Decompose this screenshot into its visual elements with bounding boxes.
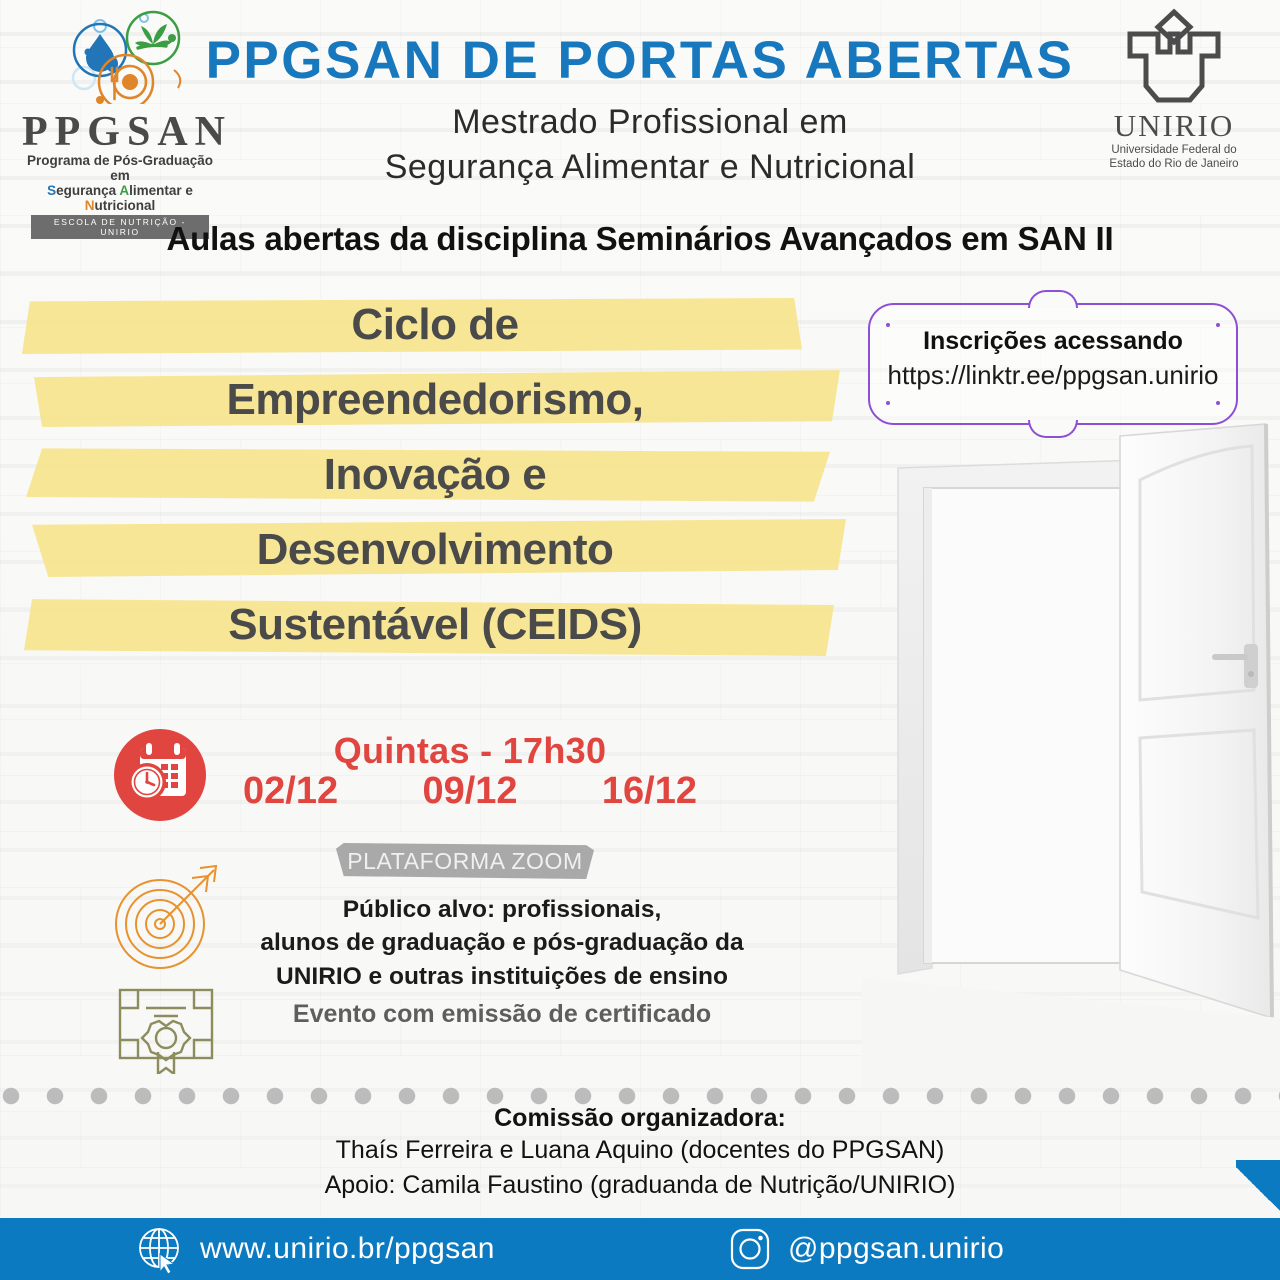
platform-ribbon: PLATAFORMA ZOOM xyxy=(336,843,594,879)
footer-instagram[interactable]: @ppgsan.unirio xyxy=(728,1218,1004,1280)
event-title-line: Ciclo de xyxy=(10,288,860,362)
event-title-row: Sustentável (CEIDS) xyxy=(10,588,860,663)
certificate-icon xyxy=(110,982,222,1074)
footer-bar: www.unirio.br/ppgsan @ppgsan.unirio xyxy=(0,1218,1280,1280)
event-title-line: Desenvolvimento xyxy=(10,513,860,587)
schedule-block: Quintas - 17h30 02/12 09/12 16/12 xyxy=(235,730,705,813)
footer-website-text[interactable]: www.unirio.br/ppgsan xyxy=(200,1232,495,1266)
event-title-line: Inovação e xyxy=(10,438,860,512)
unirio-logo-subtitle-2: Estado do Rio de Janeiro xyxy=(1086,158,1262,172)
page-subtitle-line-2: Segurança Alimentar e Nutricional xyxy=(250,145,1050,190)
page-subtitle-line-1: Mestrado Profissional em xyxy=(250,100,1050,145)
committee-block: Comissão organizadora: Thaís Ferreira e … xyxy=(140,1104,1140,1202)
event-title-row: Desenvolvimento xyxy=(10,513,860,588)
callout-dot xyxy=(886,323,890,327)
audience-line-2: alunos de graduação e pós-graduação da xyxy=(222,926,782,959)
poster-canvas: PPGSAN Programa de Pós-Graduação em Segu… xyxy=(0,0,1280,1280)
audience-line-3: UNIRIO e outras instituições de ensino xyxy=(222,960,782,993)
event-title-line: Sustentável (CEIDS) xyxy=(10,588,860,662)
event-title-block: Ciclo de Empreendedorismo, Inovação e De… xyxy=(10,288,860,663)
platform-label: PLATAFORMA ZOOM xyxy=(336,843,594,879)
event-title-row: Inovação e xyxy=(10,438,860,513)
callout-dot xyxy=(1216,401,1220,405)
event-title-line: Empreendedorismo, xyxy=(10,363,860,437)
footer-website[interactable]: www.unirio.br/ppgsan xyxy=(138,1218,495,1280)
target-arrow-icon xyxy=(104,862,226,974)
unirio-logo-subtitle: Universidade Federal do Estado do Rio de… xyxy=(1086,144,1262,172)
registration-callout[interactable]: Inscrições acessando https://linktr.ee/p… xyxy=(868,303,1238,425)
audience-line-1: Público alvo: profissionais, xyxy=(222,893,782,926)
page-title: PPGSAN DE PORTAS ABERTAS xyxy=(0,30,1280,91)
event-title-row: Ciclo de xyxy=(10,288,860,363)
event-title-row: Empreendedorismo, xyxy=(10,363,860,438)
audience-text: Público alvo: profissionais, alunos de g… xyxy=(222,893,782,993)
committee-line-2: Apoio: Camila Faustino (graduanda de Nut… xyxy=(140,1168,1140,1203)
ppgsan-logo-subtitle-1: Programa de Pós-Graduação em xyxy=(22,153,218,183)
callout-dot xyxy=(886,401,890,405)
ppgsan-wordmark: PPGSAN xyxy=(22,111,218,153)
committee-heading: Comissão organizadora: xyxy=(140,1104,1140,1133)
callout-dot xyxy=(1216,323,1220,327)
unirio-logo-subtitle-1: Universidade Federal do xyxy=(1086,144,1262,158)
open-door-illustration xyxy=(862,418,1280,1088)
schedule-dates: 02/12 09/12 16/12 xyxy=(235,770,705,813)
page-subtitle: Mestrado Profissional em Segurança Alime… xyxy=(250,100,1050,190)
schedule-date: 02/12 xyxy=(243,770,338,813)
globe-cursor-icon xyxy=(138,1224,184,1274)
unirio-wordmark: UNIRIO xyxy=(1086,110,1262,141)
callout-notch-mask-bottom xyxy=(1032,420,1074,425)
registration-link[interactable]: https://linktr.ee/ppgsan.unirio xyxy=(870,360,1236,391)
registration-label: Inscrições acessando xyxy=(870,327,1236,356)
ppgsan-logo-subtitle-2: Segurança Alimentar e Nutricional xyxy=(22,183,218,213)
schedule-date: 16/12 xyxy=(602,770,697,813)
schedule-date: 09/12 xyxy=(422,770,517,813)
schedule-weekday-time: Quintas - 17h30 xyxy=(235,730,705,772)
instagram-icon xyxy=(728,1226,772,1272)
corner-accent xyxy=(1236,1160,1280,1218)
course-banner-text: Aulas abertas da disciplina Seminários A… xyxy=(0,220,1280,258)
open-door-icon xyxy=(862,418,1280,1088)
committee-line-1: Thaís Ferreira e Luana Aquino (docentes … xyxy=(140,1133,1140,1168)
footer-instagram-text[interactable]: @ppgsan.unirio xyxy=(788,1232,1004,1266)
calendar-clock-icon xyxy=(112,727,208,823)
callout-notch-mask-top xyxy=(1032,303,1074,308)
certificate-text: Evento com emissão de certificado xyxy=(222,1000,782,1029)
